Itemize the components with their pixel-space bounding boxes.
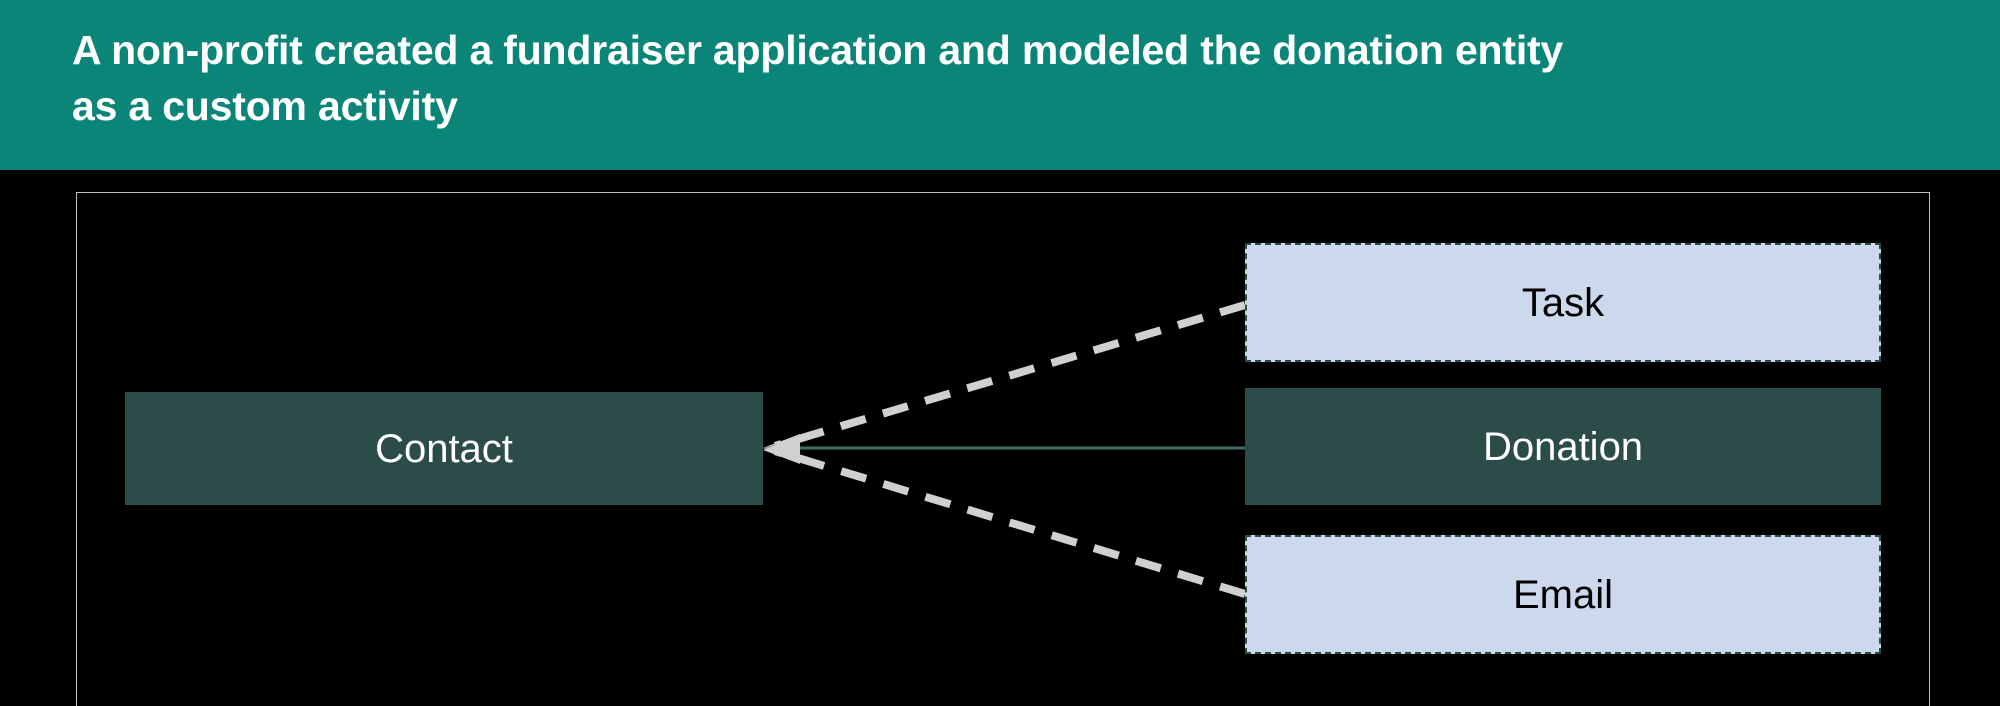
- entity-box-donation[interactable]: Donation: [1245, 388, 1881, 505]
- entity-label-donation: Donation: [1483, 427, 1643, 467]
- entity-label-contact: Contact: [375, 429, 513, 469]
- entity-label-email: Email: [1513, 575, 1613, 615]
- entity-label-task: Task: [1522, 283, 1604, 323]
- header-banner: A non-profit created a fundraiser applic…: [0, 0, 2000, 170]
- page-title: A non-profit created a fundraiser applic…: [72, 22, 1902, 134]
- connector-contact-email: [763, 436, 1245, 594]
- entity-box-email[interactable]: Email: [1245, 535, 1881, 654]
- entity-box-contact[interactable]: Contact: [125, 392, 763, 505]
- diagram-canvas: Contact Task Donation Email: [0, 170, 2000, 706]
- connector-contact-donation: [763, 440, 1245, 456]
- entity-box-task[interactable]: Task: [1245, 243, 1881, 362]
- connector-contact-task: [763, 305, 1245, 462]
